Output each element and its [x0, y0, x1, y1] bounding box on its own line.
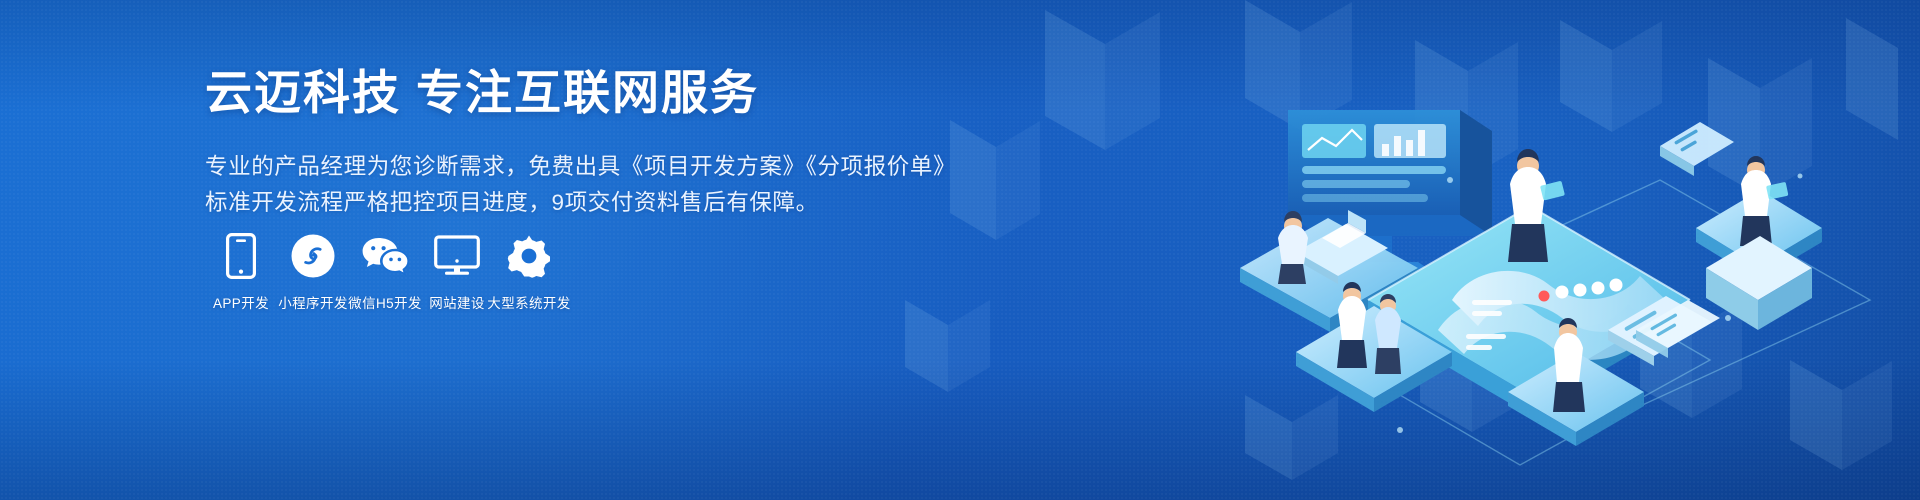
service-item-system[interactable]: 大型系统开发: [493, 232, 565, 312]
page-title: 云迈科技 专注互联网服务: [205, 64, 905, 123]
mobile-phone-icon: [226, 232, 256, 280]
service-label-miniprogram: 小程序开发: [278, 292, 348, 312]
gear-icon: [507, 232, 551, 280]
subtitle-line-2: 标准开发流程严格把控项目进度，9项交付资料售后有保障。: [205, 185, 905, 221]
banner-copy: 云迈科技 专注互联网服务 专业的产品经理为您诊断需求，免费出具《项目开发方案》《…: [205, 64, 905, 222]
service-label-system: 大型系统开发: [487, 292, 570, 312]
subtitle-line-1: 专业的产品经理为您诊断需求，免费出具《项目开发方案》《分项报价单》: [205, 149, 905, 185]
hero-banner: 云迈科技 专注互联网服务 专业的产品经理为您诊断需求，免费出具《项目开发方案》《…: [0, 0, 1920, 500]
service-item-website[interactable]: 网站建设: [421, 232, 493, 312]
service-label-website: 网站建设: [429, 292, 485, 312]
monitor-icon: [434, 232, 480, 280]
banner-subtitle: 专业的产品经理为您诊断需求，免费出具《项目开发方案》《分项报价单》 标准开发流程…: [205, 149, 905, 222]
service-label-app: APP开发: [213, 292, 269, 312]
service-icon-row: APP开发 小程序开发: [205, 232, 565, 312]
isometric-illustration: [1100, 0, 1920, 500]
service-label-wechat: 微信H5开发: [348, 292, 422, 312]
wechat-icon: [360, 232, 410, 280]
mini-program-icon: [290, 232, 336, 280]
service-item-wechat[interactable]: 微信H5开发: [349, 232, 421, 312]
service-item-app[interactable]: APP开发: [205, 232, 277, 312]
service-item-miniprogram[interactable]: 小程序开发: [277, 232, 349, 312]
